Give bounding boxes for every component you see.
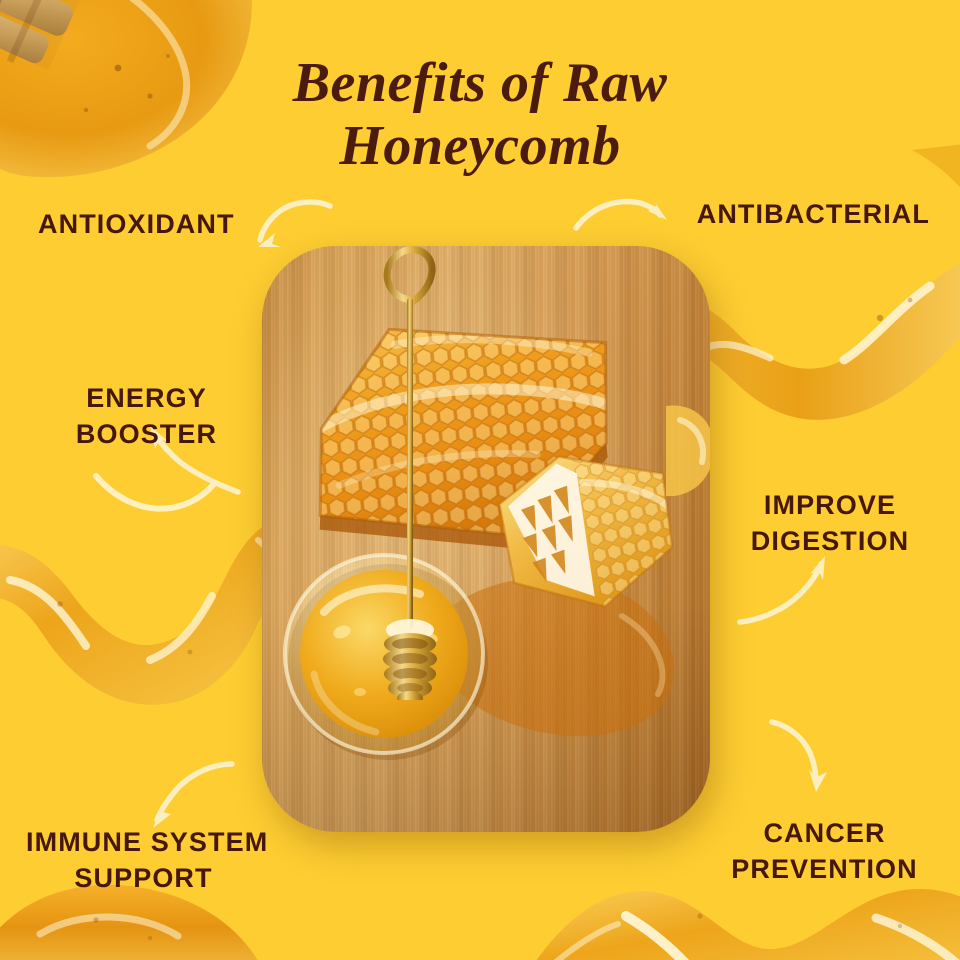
benefit-line: DIGESTION [730, 523, 930, 559]
arrow-antioxidant-icon [258, 202, 330, 247]
arrow-cancer-prevention-icon [772, 722, 827, 792]
benefit-label-improve-digestion: IMPROVE DIGESTION [730, 487, 930, 559]
benefit-label-antibacterial: ANTIBACTERIAL [697, 196, 930, 232]
poster-canvas: Benefits of Raw Honeycomb [0, 0, 960, 960]
benefit-line: SUPPORT [26, 860, 261, 896]
benefit-label-cancer-prevention: CANCER PREVENTION [717, 815, 932, 887]
benefit-label-energy-booster: ENERGY BOOSTER [54, 380, 239, 452]
benefit-line: BOOSTER [54, 416, 239, 452]
page-title: Benefits of Raw Honeycomb [0, 52, 960, 178]
arrow-antibacterial-icon [576, 197, 667, 228]
benefit-line: ANTIBACTERIAL [697, 196, 930, 232]
benefit-line: ANTIOXIDANT [38, 206, 235, 242]
benefit-label-immune-system-support: IMMUNE SYSTEM SUPPORT [26, 824, 261, 896]
benefit-line: CANCER [717, 815, 932, 851]
title-line-2: Honeycomb [0, 115, 960, 178]
benefit-line: IMMUNE SYSTEM [26, 824, 261, 860]
title-line-1: Benefits of Raw [0, 52, 960, 115]
arrow-improve-digestion-icon [740, 556, 825, 622]
benefit-line: ENERGY [54, 380, 239, 416]
benefit-line: IMPROVE [730, 487, 930, 523]
benefit-label-antioxidant: ANTIOXIDANT [38, 206, 235, 242]
benefit-line: PREVENTION [717, 851, 932, 887]
arrow-immune-support-icon [153, 764, 232, 828]
